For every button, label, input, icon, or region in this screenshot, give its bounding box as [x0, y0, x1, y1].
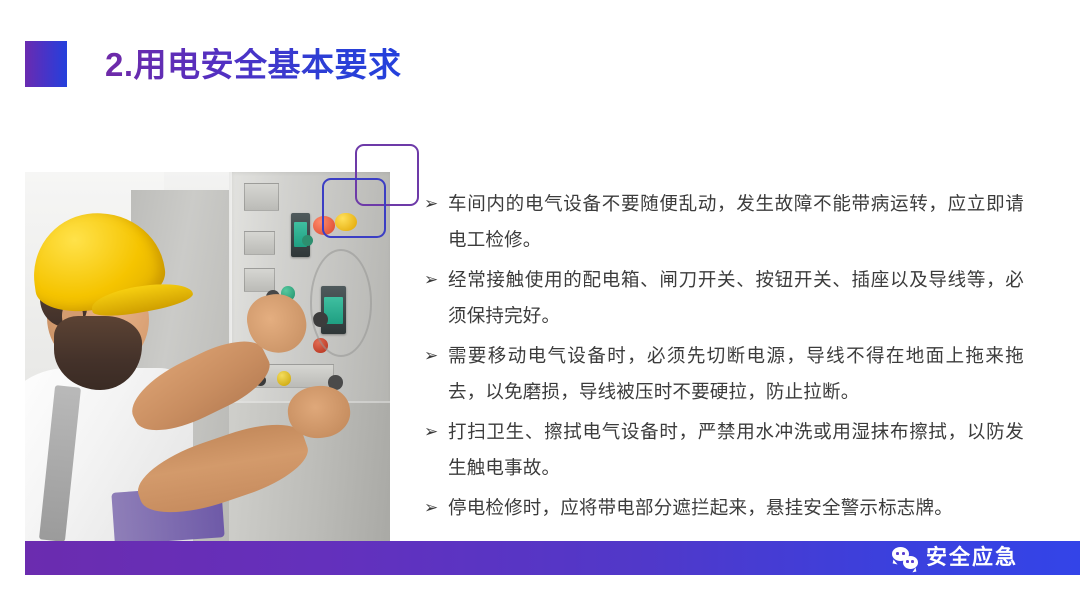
photo-panel-slot — [244, 268, 275, 292]
arrow-bullet-icon: ➢ — [424, 186, 448, 222]
footer-brand-label: 安全应急 — [926, 541, 1018, 575]
list-item: ➢ 打扫卫生、擦拭电气设备时，严禁用水冲洗或用湿抹布擦拭，以防发生触电事故。 — [424, 414, 1024, 486]
title-label: 2.用电安全基本要求 — [105, 48, 402, 81]
wechat-icon — [892, 547, 918, 569]
list-item-text: 需要移动电气设备时，必须先切断电源，导线不得在地面上拖来拖去，以免磨损，导线被压… — [448, 338, 1024, 410]
page-title: 2.用电安全基本要求 — [25, 40, 402, 88]
photo-panel-slot — [244, 231, 275, 255]
list-item: ➢ 停电检修时，应将带电部分遮拦起来，悬挂安全警示标志牌。 — [424, 490, 1024, 526]
list-item-text: 经常接触使用的配电箱、闸刀开关、按钮开关、插座以及导线等，必须保持完好。 — [448, 262, 1024, 334]
list-item: ➢ 经常接触使用的配电箱、闸刀开关、按钮开关、插座以及导线等，必须保持完好。 — [424, 262, 1024, 334]
footer-bar: 安全应急 — [25, 541, 1080, 575]
bullet-list: ➢ 车间内的电气设备不要随便乱动，发生故障不能带病运转，应立即请电工检修。 ➢ … — [424, 186, 1024, 530]
photo-panel-dial — [310, 249, 372, 356]
list-item-text: 打扫卫生、擦拭电气设备时，严禁用水冲洗或用湿抹布擦拭，以防发生触电事故。 — [448, 414, 1024, 486]
list-item: ➢ 车间内的电气设备不要随便乱动，发生故障不能带病运转，应立即请电工检修。 — [424, 186, 1024, 258]
footer-brand: 安全应急 — [892, 541, 1018, 575]
title-accent-square — [25, 41, 67, 87]
decorative-rectangle-front — [322, 178, 386, 238]
arrow-bullet-icon: ➢ — [424, 338, 448, 374]
photo-panel-slot — [244, 183, 279, 211]
slide-canvas: 2.用电安全基本要求 — [0, 0, 1080, 608]
list-item-text: 车间内的电气设备不要随便乱动，发生故障不能带病运转，应立即请电工检修。 — [448, 186, 1024, 258]
list-item: ➢ 需要移动电气设备时，必须先切断电源，导线不得在地面上拖来拖去，以免磨损，导线… — [424, 338, 1024, 410]
arrow-bullet-icon: ➢ — [424, 490, 448, 526]
arrow-bullet-icon: ➢ — [424, 414, 448, 450]
arrow-bullet-icon: ➢ — [424, 262, 448, 298]
list-item-text: 停电检修时，应将带电部分遮拦起来，悬挂安全警示标志牌。 — [448, 490, 1024, 526]
